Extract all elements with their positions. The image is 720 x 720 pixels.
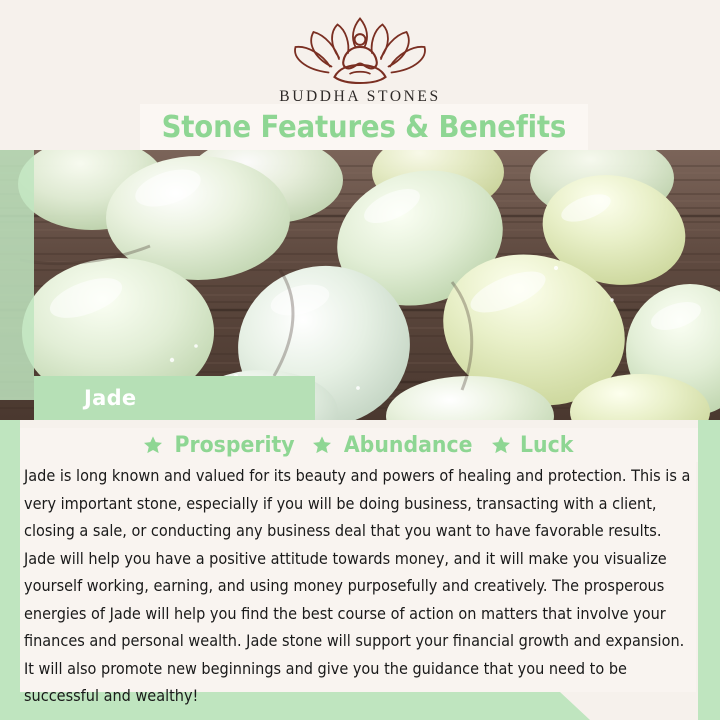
benefit-item-prosperity: Prosperity	[143, 433, 299, 458]
benefit-item-abundance: Abundance	[312, 433, 477, 458]
benefits-row: Prosperity Abundance Luck	[20, 428, 698, 462]
star-icon	[491, 435, 511, 455]
benefit-label: Prosperity	[175, 433, 295, 458]
star-icon	[312, 435, 332, 455]
decorative-band-left-overlay	[0, 150, 34, 400]
title-banner: Stone Features & Benefits	[140, 104, 588, 150]
benefit-label: Abundance	[344, 433, 473, 458]
benefit-item-luck: Luck	[491, 433, 575, 458]
lotus-meditation-icon	[285, 14, 435, 86]
star-icon	[143, 435, 163, 455]
description-text: Jade is long known and valued for its be…	[24, 462, 694, 710]
page-title: Stone Features & Benefits	[162, 110, 567, 145]
photo-caption-label: Jade	[84, 386, 136, 410]
benefit-label: Luck	[520, 433, 573, 458]
stone-photo: Jade	[0, 150, 720, 420]
description-block: Jade is long known and valued for its be…	[20, 462, 696, 692]
photo-caption-banner: Jade	[34, 376, 315, 420]
infographic-page: BUDDHA STONES Stone Features & Benefits	[0, 0, 720, 720]
